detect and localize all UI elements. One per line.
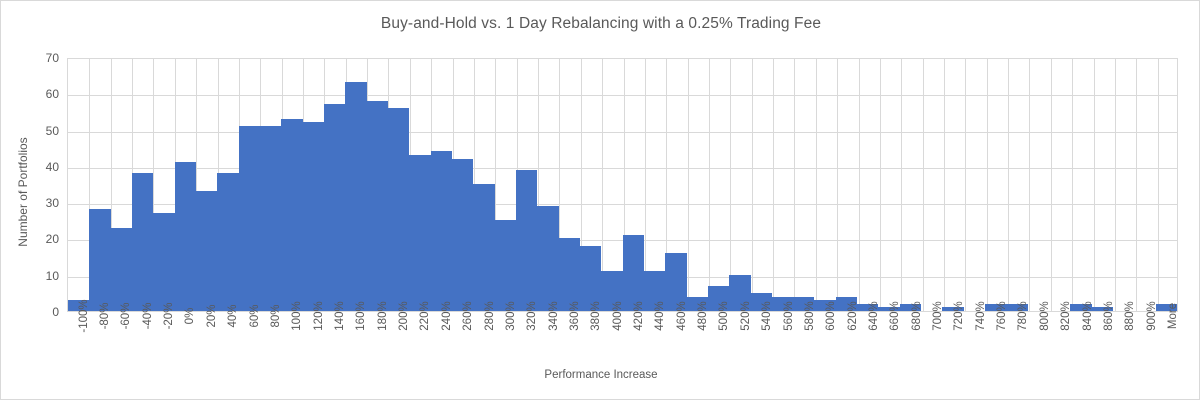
x-axis-tick: 420%	[622, 314, 643, 366]
x-axis-tick: 40%	[217, 314, 238, 366]
x-axis-tick: 680%	[900, 314, 921, 366]
x-axis-tick: 660%	[879, 314, 900, 366]
histogram-bar	[367, 101, 388, 311]
histogram-bar	[239, 126, 260, 311]
x-axis-tick: 480%	[686, 314, 707, 366]
x-axis-tick: 100%	[281, 314, 302, 366]
y-axis-tick-label: 0	[3, 305, 59, 319]
x-axis-tick: 380%	[580, 314, 601, 366]
x-axis-tick: 20%	[195, 314, 216, 366]
x-axis-tick: 200%	[387, 314, 408, 366]
x-axis-tick: -20%	[152, 314, 173, 366]
x-axis-tick: 600%	[815, 314, 836, 366]
y-axis-tick-label: 70	[3, 51, 59, 65]
y-axis-title: Number of Portfolios	[16, 92, 30, 292]
x-axis-tick: 260%	[451, 314, 472, 366]
x-axis-tick: 440%	[644, 314, 665, 366]
x-axis-tick: 120%	[302, 314, 323, 366]
x-axis-tick: 60%	[238, 314, 259, 366]
x-axis-tick: More	[1156, 314, 1177, 366]
x-axis-tick: 180%	[366, 314, 387, 366]
x-axis-tick: 800%	[1028, 314, 1049, 366]
x-axis-tick: 740%	[964, 314, 985, 366]
histogram-bars	[68, 59, 1177, 311]
x-axis-tick: 300%	[494, 314, 515, 366]
x-axis-tick: 140%	[323, 314, 344, 366]
x-axis-tick-label: More	[1167, 303, 1179, 329]
x-axis-tick: 500%	[708, 314, 729, 366]
histogram-bar	[153, 213, 174, 311]
histogram-bar	[537, 206, 558, 311]
chart-container: Buy-and-Hold vs. 1 Day Rebalancing with …	[0, 0, 1200, 400]
x-axis-tick: 700%	[921, 314, 942, 366]
histogram-bar	[89, 209, 110, 311]
histogram-bar	[132, 173, 153, 311]
x-axis-tick: 640%	[857, 314, 878, 366]
x-axis-tick: 720%	[943, 314, 964, 366]
x-axis-tick: 400%	[601, 314, 622, 366]
x-axis-tick: 360%	[558, 314, 579, 366]
histogram-bar	[388, 108, 409, 311]
x-axis-tick: -40%	[131, 314, 152, 366]
y-axis-tick-label: 60	[3, 87, 59, 101]
histogram-bar	[473, 184, 494, 311]
y-axis-tick-label: 20	[3, 232, 59, 246]
x-axis-title: Performance Increase	[1, 369, 1200, 381]
histogram-bar	[281, 119, 302, 311]
x-axis-tick: 520%	[729, 314, 750, 366]
histogram-bar	[324, 104, 345, 311]
x-axis-tick: -60%	[110, 314, 131, 366]
x-axis-tick: 460%	[665, 314, 686, 366]
x-axis: -100%-80%-60%-40%-20%0%20%40%60%80%100%1…	[67, 314, 1178, 366]
x-axis-tick: 860%	[1092, 314, 1113, 366]
histogram-bar	[217, 173, 238, 311]
y-axis-tick-label: 30	[3, 196, 59, 210]
y-axis-tick-label: 50	[3, 124, 59, 138]
x-axis-tick: 780%	[1007, 314, 1028, 366]
histogram-bar	[452, 159, 473, 311]
x-axis-tick: -80%	[88, 314, 109, 366]
x-axis-tick: 560%	[772, 314, 793, 366]
x-axis-tick: 340%	[537, 314, 558, 366]
histogram-bar	[260, 126, 281, 311]
histogram-bar	[495, 220, 516, 311]
x-axis-tick: 620%	[836, 314, 857, 366]
histogram-bar	[111, 228, 132, 311]
histogram-bar	[196, 191, 217, 311]
histogram-bar	[623, 235, 644, 311]
x-axis-tick: 880%	[1114, 314, 1135, 366]
histogram-bar	[409, 155, 430, 311]
histogram-bar	[345, 82, 366, 311]
x-axis-tick: -100%	[67, 314, 88, 366]
x-axis-tick: 0%	[174, 314, 195, 366]
x-axis-tick: 240%	[430, 314, 451, 366]
x-axis-tick: 80%	[259, 314, 280, 366]
chart-title: Buy-and-Hold vs. 1 Day Rebalancing with …	[1, 15, 1200, 33]
x-axis-tick: 280%	[473, 314, 494, 366]
x-axis-tick: 820%	[1050, 314, 1071, 366]
x-axis-tick: 220%	[409, 314, 430, 366]
plot-area	[67, 58, 1178, 312]
histogram-bar	[516, 170, 537, 312]
x-axis-tick: 840%	[1071, 314, 1092, 366]
x-axis-tick: 580%	[793, 314, 814, 366]
x-axis-tick: 760%	[985, 314, 1006, 366]
x-axis-tick: 900%	[1135, 314, 1156, 366]
y-axis-tick-label: 10	[3, 269, 59, 283]
x-axis-tick: 540%	[751, 314, 772, 366]
histogram-bar	[559, 238, 580, 311]
x-axis-tick: 160%	[345, 314, 366, 366]
histogram-bar	[431, 151, 452, 311]
histogram-bar	[303, 122, 324, 311]
y-axis-tick-label: 40	[3, 160, 59, 174]
x-axis-tick: 320%	[516, 314, 537, 366]
histogram-bar	[175, 162, 196, 311]
y-axis: 706050403020100	[1, 58, 59, 312]
